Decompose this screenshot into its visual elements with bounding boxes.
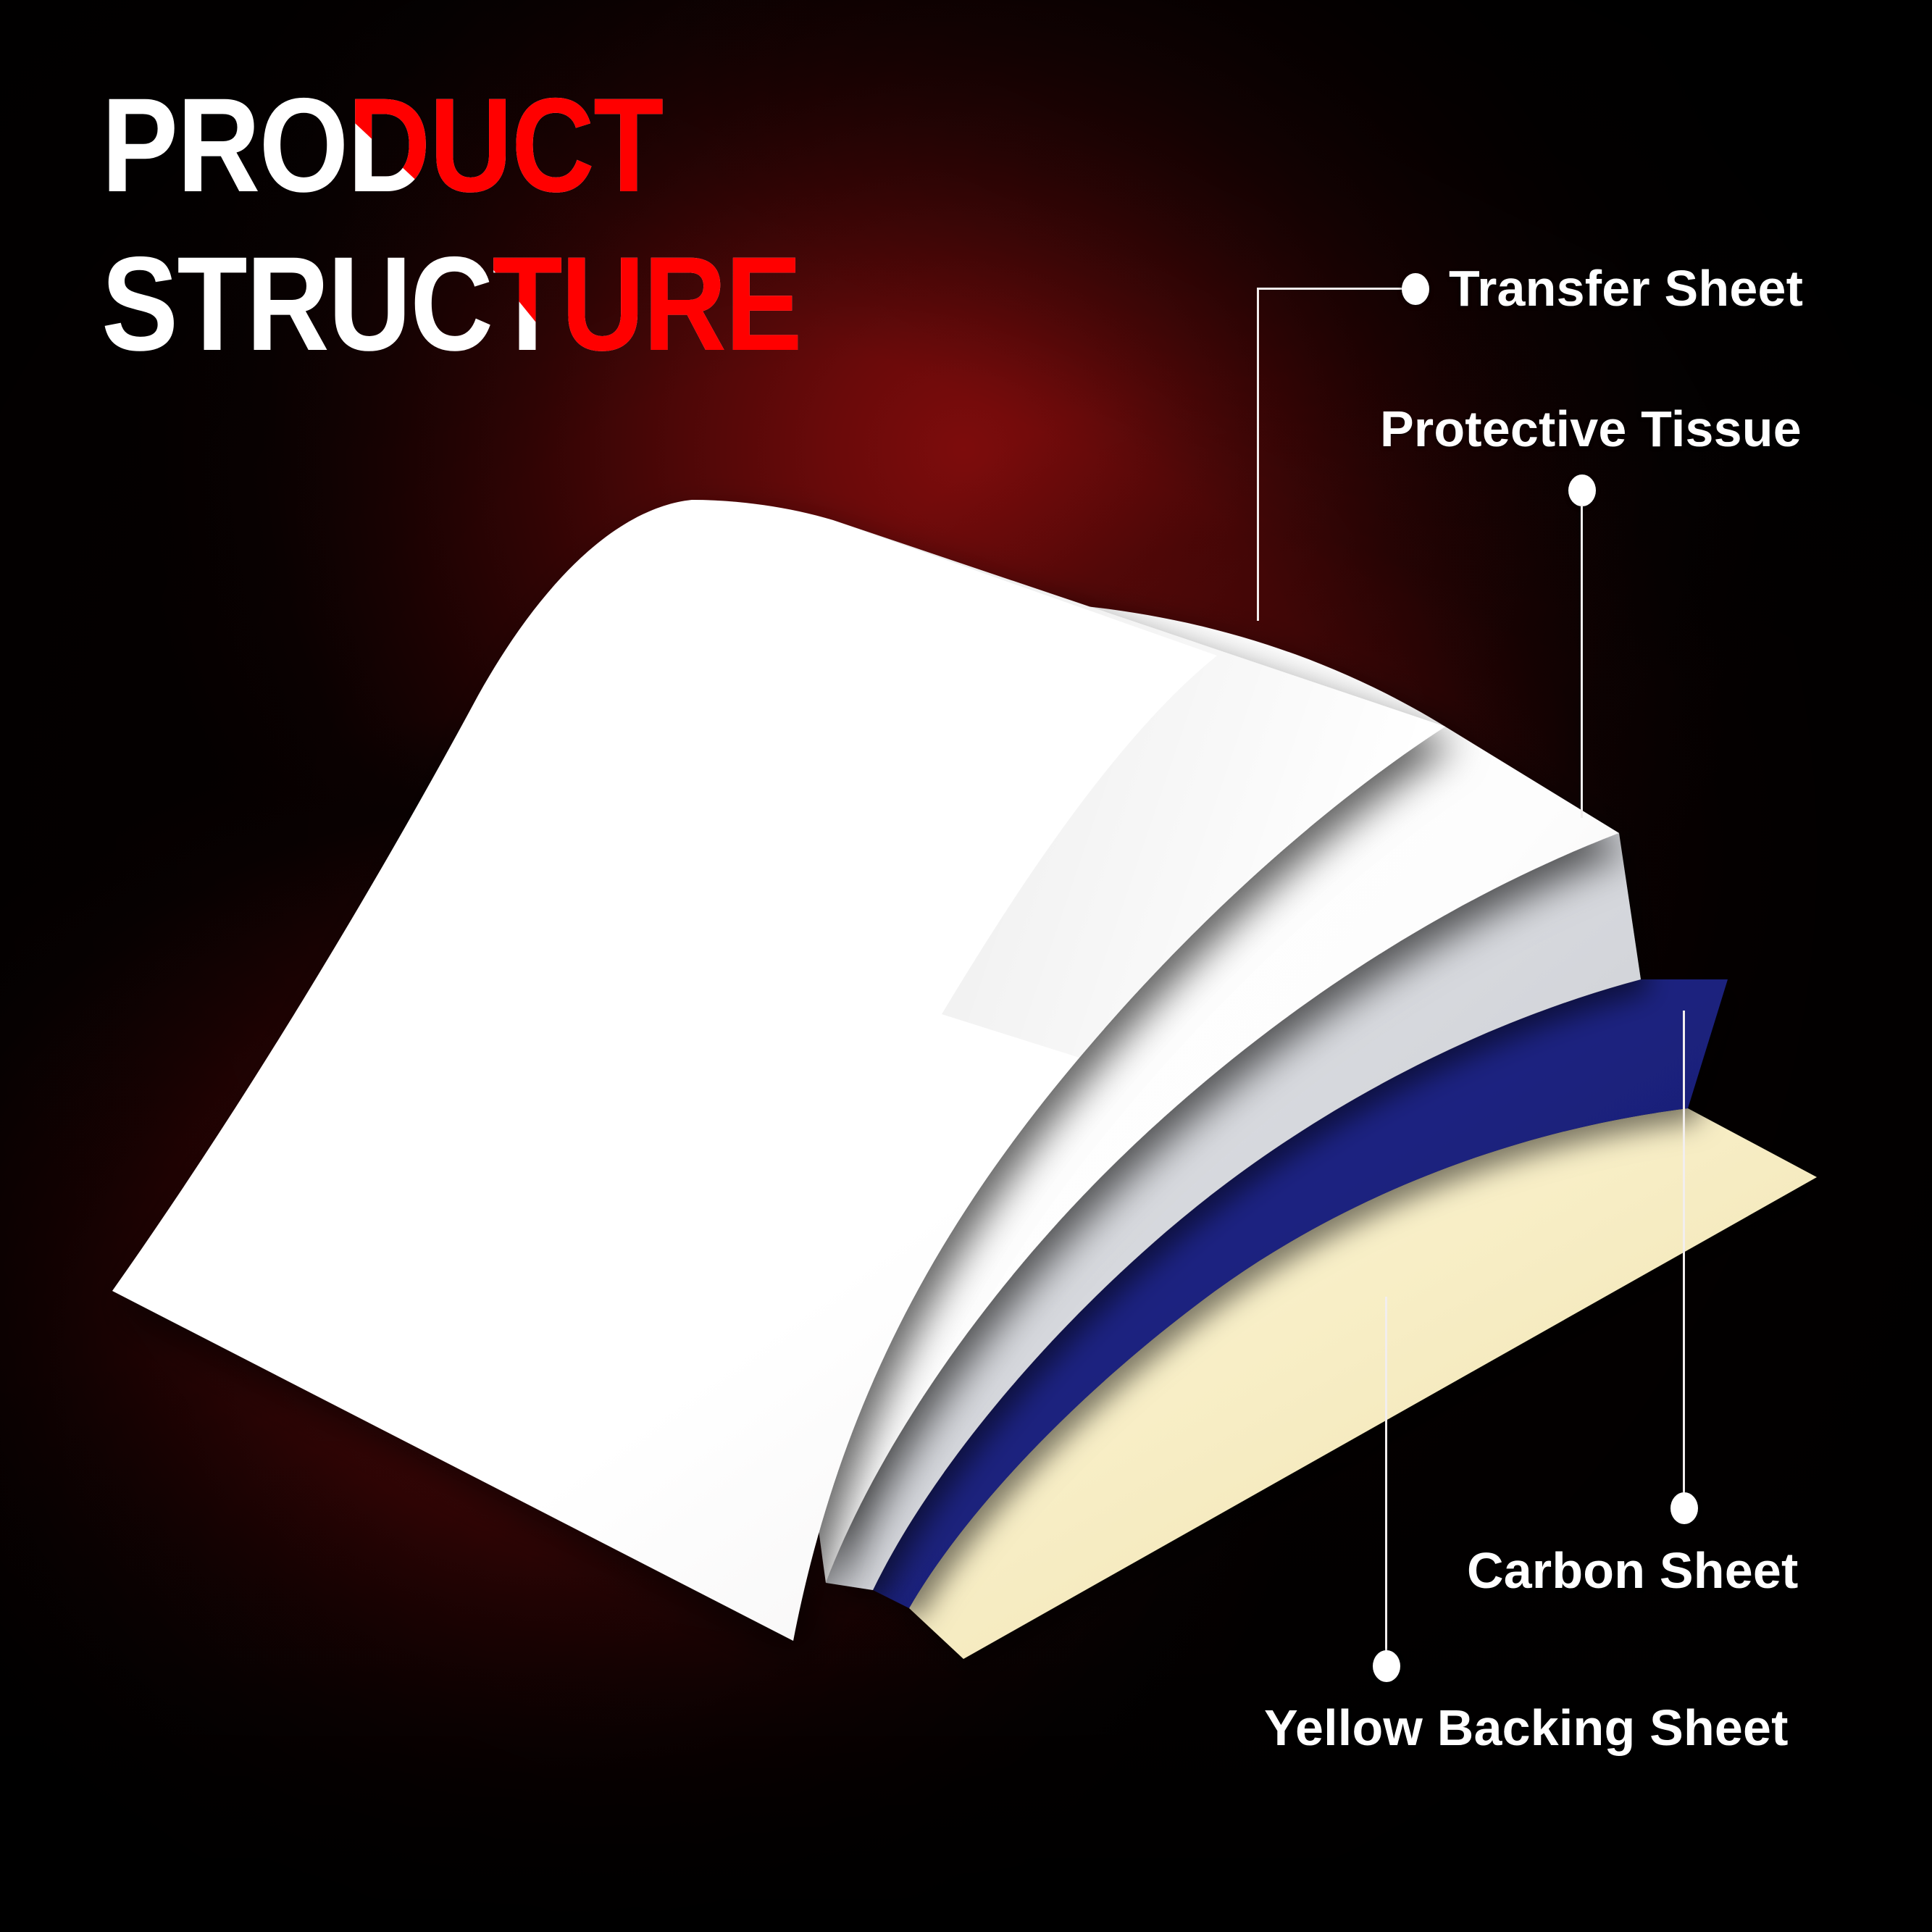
title-line-product-text: PRODUCT xyxy=(101,71,663,220)
protective-tissue-dot xyxy=(1568,474,1596,506)
yellow-backing-sheet-dot xyxy=(1373,1650,1400,1682)
protective-tissue-leader xyxy=(1581,505,1583,818)
carbon-sheet-dot xyxy=(1670,1492,1698,1524)
callout-label-protective-tissue: Protective Tissue xyxy=(1380,400,1802,458)
transfer-sheet-leader-horizontal xyxy=(1257,288,1413,290)
title-line-product: PRODUCT PRODUCT xyxy=(101,85,1036,206)
page-title: PRODUCT PRODUCT STRUCTURE STRUCTURE xyxy=(101,85,1188,364)
carbon-sheet-leader xyxy=(1683,1011,1685,1503)
callout-label-yellow-backing-sheet: Yellow Backing Sheet xyxy=(1264,1699,1789,1757)
callout-label-carbon-sheet: Carbon Sheet xyxy=(1467,1542,1798,1599)
title-line-structure: STRUCTURE STRUCTURE xyxy=(101,244,1036,365)
transfer-sheet-leader-vertical xyxy=(1257,288,1259,621)
transfer-sheet-dot xyxy=(1402,273,1429,305)
product-structure-infographic: PRODUCT PRODUCT STRUCTURE STRUCTURE xyxy=(0,0,1932,1932)
callout-label-transfer-sheet: Transfer Sheet xyxy=(1449,259,1803,317)
yellow-backing-sheet-leader xyxy=(1385,1297,1387,1659)
title-line-structure-text: STRUCTURE xyxy=(101,230,801,379)
